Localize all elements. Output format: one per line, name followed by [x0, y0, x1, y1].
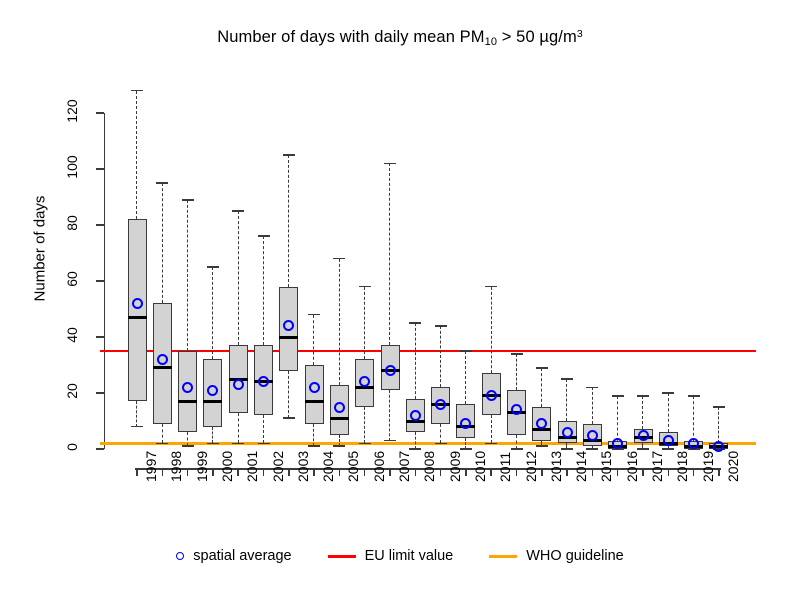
whisker-cap-upper: [384, 163, 396, 165]
x-axis-tick-label: 2005: [345, 451, 361, 482]
x-axis-tick: [440, 468, 442, 476]
whisker-cap-upper: [511, 353, 523, 355]
whisker-cap-upper: [182, 199, 194, 201]
x-axis-tick-label: 2015: [598, 451, 614, 482]
eu-limit-line: [100, 350, 757, 352]
whisker-cap-upper: [359, 286, 371, 288]
y-axis-tick-label: 60: [64, 259, 80, 299]
y-axis-tick: [96, 224, 104, 226]
whisker-upper: [541, 368, 542, 407]
boxplot-median: [279, 336, 298, 339]
x-axis-tick-label: 2000: [219, 451, 235, 482]
x-axis-tick: [263, 468, 265, 476]
whisker-upper: [238, 211, 239, 345]
whisker-lower: [415, 432, 416, 449]
spatial-average-marker: [587, 430, 598, 441]
whisker-cap-upper: [283, 154, 295, 156]
x-axis-tick-label: 2004: [320, 451, 336, 482]
x-axis-tick-label: 2012: [523, 451, 539, 482]
whisker-cap-upper: [409, 322, 421, 324]
whisker-cap-lower: [511, 448, 523, 450]
spatial-average-marker: [713, 441, 724, 452]
whisker-lower: [389, 390, 390, 440]
x-axis-tick: [364, 468, 366, 476]
x-axis-tick-label: 2007: [396, 451, 412, 482]
whisker-upper: [187, 200, 188, 351]
spatial-average-marker: [688, 438, 699, 449]
whisker-upper: [440, 326, 441, 388]
legend-item-label: WHO guideline: [526, 548, 624, 564]
y-axis-tick: [96, 168, 104, 170]
boxplot-median: [330, 417, 349, 420]
whisker-upper: [617, 396, 618, 441]
x-axis-tick-label: 2001: [244, 451, 260, 482]
whisker-cap-upper: [637, 395, 649, 397]
whisker-upper: [566, 379, 567, 421]
x-axis-tick: [313, 468, 315, 476]
whisker-lower: [238, 413, 239, 444]
whisker-cap-lower: [435, 443, 447, 445]
whisker-cap-upper: [485, 286, 497, 288]
whisker-cap-upper: [258, 235, 270, 237]
whisker-lower: [263, 415, 264, 443]
x-axis-tick: [415, 468, 417, 476]
legend-line-icon: [328, 555, 356, 558]
boxplot-box: [305, 365, 324, 424]
y-axis-tick-label: 100: [64, 147, 80, 187]
x-axis-tick: [162, 468, 164, 476]
whisker-upper: [592, 387, 593, 423]
whisker-cap-upper: [156, 182, 168, 184]
whisker-upper: [263, 236, 264, 345]
whisker-upper: [668, 393, 669, 432]
legend-item-who-guideline: WHO guideline: [489, 548, 624, 564]
x-axis-tick: [389, 468, 391, 476]
x-axis-tick-label: 2009: [447, 451, 463, 482]
x-axis-tick: [693, 468, 695, 476]
whisker-cap-lower: [409, 448, 421, 450]
whisker-cap-upper: [308, 314, 320, 316]
x-axis-tick: [339, 468, 341, 476]
legend-circle-icon: [176, 552, 184, 560]
x-axis-tick-label: 2006: [371, 451, 387, 482]
whisker-cap-lower: [283, 417, 295, 419]
whisker-cap-lower: [207, 443, 219, 445]
whisker-upper: [718, 407, 719, 443]
spatial-average-marker: [182, 382, 193, 393]
whisker-upper: [212, 267, 213, 359]
x-axis-tick: [490, 468, 492, 476]
spatial-average-marker: [562, 427, 573, 438]
x-axis-tick: [592, 468, 594, 476]
legend-item-label: EU limit value: [365, 548, 454, 564]
whisker-upper: [389, 163, 390, 345]
legend-item-spatial-average: spatial average: [176, 548, 291, 564]
chart-legend: spatial averageEU limit valueWHO guideli…: [0, 548, 800, 564]
whisker-cap-lower: [586, 448, 598, 450]
whisker-cap-lower: [258, 443, 270, 445]
whisker-upper: [136, 91, 137, 220]
whisker-cap-lower: [232, 443, 244, 445]
boxplot-median: [305, 400, 324, 403]
x-axis-tick-label: 2011: [497, 452, 513, 482]
whisker-upper: [313, 315, 314, 365]
whisker-cap-lower: [662, 448, 674, 450]
spatial-average-marker: [157, 354, 168, 365]
whisker-lower: [187, 432, 188, 446]
x-axis-tick-label: 2017: [649, 451, 665, 482]
x-axis-tick-label: 2003: [295, 451, 311, 482]
whisker-upper: [162, 183, 163, 303]
whisker-upper: [693, 396, 694, 441]
whisker-upper: [642, 396, 643, 430]
x-axis-tick: [516, 468, 518, 476]
whisker-lower: [136, 401, 137, 426]
spatial-average-marker: [663, 435, 674, 446]
y-axis-tick-label: 80: [64, 203, 80, 243]
boxplot-median: [178, 400, 197, 403]
whisker-cap-upper: [333, 258, 345, 260]
whisker-cap-lower: [156, 443, 168, 445]
x-axis-tick-label: 1997: [143, 451, 159, 482]
whisker-cap-lower: [485, 443, 497, 445]
y-axis-tick: [96, 336, 104, 338]
whisker-lower: [516, 435, 517, 449]
legend-line-icon: [489, 555, 517, 558]
whisker-upper: [465, 351, 466, 404]
x-axis-tick: [668, 468, 670, 476]
x-axis-tick-label: 2020: [725, 451, 741, 482]
spatial-average-marker: [334, 402, 345, 413]
x-axis-tick-label: 2014: [573, 451, 589, 482]
x-axis-tick: [541, 468, 543, 476]
whisker-cap-upper: [662, 392, 674, 394]
x-axis-tick-label: 2002: [270, 451, 286, 482]
x-axis-tick: [718, 468, 720, 476]
whisker-upper: [339, 259, 340, 385]
whisker-cap-upper: [232, 210, 244, 212]
whisker-upper: [516, 354, 517, 390]
y-axis-tick: [96, 112, 104, 114]
spatial-average-marker: [612, 438, 623, 449]
x-axis-tick: [212, 468, 214, 476]
whisker-cap-lower: [182, 445, 194, 447]
spatial-average-marker: [435, 399, 446, 410]
y-axis-tick: [96, 448, 104, 450]
spatial-average-marker: [486, 390, 497, 401]
x-axis-tick-label: 2019: [700, 451, 716, 482]
boxplot-median: [128, 316, 147, 319]
boxplot-median: [153, 366, 172, 369]
whisker-lower: [364, 407, 365, 443]
x-axis-tick: [288, 468, 290, 476]
chart-root: Number of days with daily mean PM10 > 50…: [0, 0, 800, 600]
whisker-cap-upper: [131, 90, 143, 92]
whisker-cap-upper: [612, 395, 624, 397]
plot-area: 0204060801001201997199819992000200120022…: [0, 0, 800, 600]
x-axis-tick: [566, 468, 568, 476]
spatial-average-marker: [410, 410, 421, 421]
x-axis-tick-label: 2008: [421, 451, 437, 482]
whisker-cap-upper: [561, 378, 573, 380]
whisker-cap-upper: [713, 406, 725, 408]
whisker-cap-upper: [207, 266, 219, 268]
whisker-lower: [162, 424, 163, 444]
x-axis-tick-label: 2013: [548, 451, 564, 482]
boxplot-median: [203, 400, 222, 403]
whisker-cap-lower: [131, 426, 143, 428]
x-axis-tick-label: 2018: [674, 451, 690, 482]
whisker-cap-lower: [359, 443, 371, 445]
y-axis-tick-label: 0: [64, 427, 80, 467]
x-axis-tick: [642, 468, 644, 476]
y-axis-tick-label: 40: [64, 315, 80, 355]
x-axis-tick: [465, 468, 467, 476]
x-axis-tick-label: 1998: [168, 451, 184, 482]
whisker-cap-lower: [308, 445, 320, 447]
whisker-cap-upper: [586, 387, 598, 389]
boxplot-box: [128, 219, 147, 401]
spatial-average-marker: [638, 430, 649, 441]
whisker-cap-lower: [460, 448, 472, 450]
whisker-upper: [288, 155, 289, 287]
whisker-lower: [288, 371, 289, 419]
x-axis-tick: [136, 468, 138, 476]
spatial-average-marker: [132, 298, 143, 309]
y-axis-label: Number of days: [32, 169, 49, 329]
x-axis-tick-label: 2010: [472, 451, 488, 482]
whisker-cap-lower: [637, 448, 649, 450]
y-axis-tick-label: 120: [64, 91, 80, 131]
spatial-average-marker: [309, 382, 320, 393]
whisker-cap-upper: [536, 367, 548, 369]
whisker-cap-upper: [435, 325, 447, 327]
whisker-lower: [491, 415, 492, 443]
spatial-average-marker: [385, 365, 396, 376]
whisker-cap-upper: [460, 350, 472, 352]
x-axis-tick: [237, 468, 239, 476]
y-axis-tick: [96, 280, 104, 282]
who-guideline-line: [100, 442, 757, 444]
spatial-average-marker: [233, 379, 244, 390]
x-axis-tick-label: 2016: [624, 451, 640, 482]
whisker-cap-lower: [384, 440, 396, 442]
whisker-lower: [212, 427, 213, 444]
y-axis-tick-label: 20: [64, 371, 80, 411]
y-axis-line: [104, 113, 106, 449]
whisker-cap-upper: [688, 395, 700, 397]
legend-item-label: spatial average: [193, 548, 291, 564]
whisker-cap-lower: [561, 448, 573, 450]
legend-item-eu-limit-value: EU limit value: [328, 548, 454, 564]
x-axis-tick-label: 1999: [194, 451, 210, 482]
whisker-lower: [440, 424, 441, 444]
x-axis-tick: [617, 468, 619, 476]
whisker-lower: [313, 424, 314, 446]
whisker-upper: [415, 323, 416, 399]
x-axis-tick: [187, 468, 189, 476]
whisker-upper: [364, 287, 365, 360]
y-axis-tick: [96, 392, 104, 394]
whisker-cap-lower: [536, 445, 548, 447]
whisker-upper: [491, 287, 492, 374]
whisker-cap-lower: [333, 445, 345, 447]
